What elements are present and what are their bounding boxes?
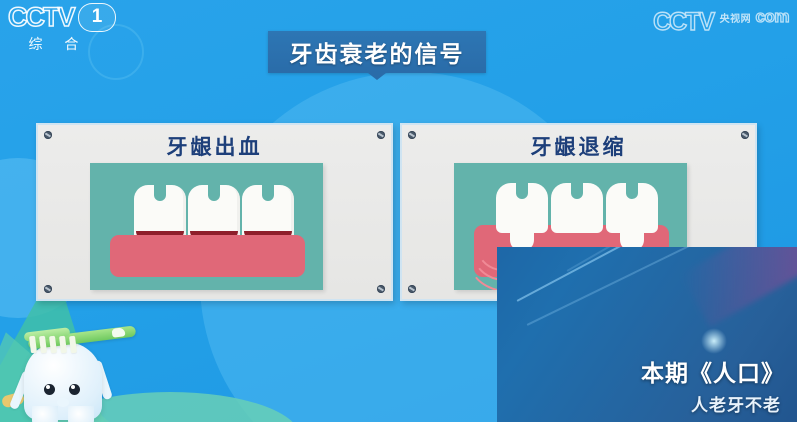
program-title: 本期《人口》 bbox=[641, 354, 785, 388]
gum-shape bbox=[110, 235, 305, 277]
program-subtitle: 人老牙不老 bbox=[691, 391, 781, 416]
tooth-mascot bbox=[6, 316, 136, 422]
panel-bleeding-gums: 牙龈出血 bbox=[36, 123, 393, 301]
channel-number: 1 bbox=[78, 3, 116, 32]
tv-broadcast-screen: CCTV 1 综 合 CCTV 央视网 com 牙齿衰老的信号 牙龈出血 bbox=[0, 0, 797, 422]
channel-logo: CCTV 1 综 合 bbox=[8, 4, 108, 54]
title-banner: 牙齿衰老的信号 bbox=[268, 31, 486, 73]
tooth-shape bbox=[551, 183, 603, 233]
cctv-com-watermark: CCTV 央视网 com bbox=[653, 8, 789, 38]
watermark-cctv-text: CCTV bbox=[653, 8, 713, 36]
screw-icon bbox=[408, 285, 416, 293]
watermark-right-group: 央视网 com bbox=[720, 8, 789, 27]
channel-name: 综 合 bbox=[8, 34, 108, 54]
panel-left-title: 牙龈出血 bbox=[38, 131, 391, 161]
mascot-eye-right bbox=[69, 384, 80, 395]
lower-third-overlay: 本期《人口》 人老牙不老 bbox=[497, 247, 797, 422]
screw-icon bbox=[377, 285, 385, 293]
screw-icon bbox=[44, 285, 52, 293]
watermark-chinese-text: 央视网 bbox=[720, 14, 752, 25]
mascot-eye-left bbox=[44, 384, 55, 395]
mascot-leg-right bbox=[68, 406, 94, 422]
panel-right-title: 牙龈退缩 bbox=[402, 131, 755, 161]
illustration-bleeding-gums bbox=[90, 163, 323, 290]
title-banner-text: 牙齿衰老的信号 bbox=[290, 35, 465, 69]
title-banner-notch bbox=[368, 73, 386, 80]
watermark-com-text: com bbox=[756, 7, 789, 26]
mascot-body bbox=[24, 342, 102, 420]
lower-third-glow bbox=[701, 328, 727, 354]
mascot-leg-left bbox=[32, 406, 58, 422]
toothpaste-dab bbox=[112, 327, 126, 338]
